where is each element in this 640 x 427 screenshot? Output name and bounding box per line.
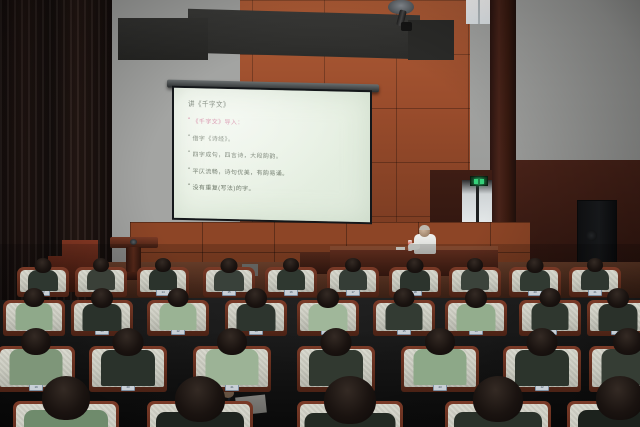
audience-member [527, 328, 558, 390]
audience-member-head [465, 288, 487, 308]
audience-member-head [473, 376, 523, 422]
audience-member-head [587, 258, 603, 272]
audience-member-torso [214, 270, 244, 291]
slide-bullet-1: • 《千字文》导入： [188, 116, 360, 129]
audience-member-torso [160, 303, 197, 330]
audience-member-head [168, 288, 189, 307]
audience-member-torso [309, 304, 348, 331]
audience-member-head [175, 376, 225, 422]
audience-member-torso [277, 269, 305, 290]
slide-title: 讲《千字文》 [188, 97, 360, 112]
slide-bullet-3: • 四字成句，四言诗，大段韵韵。 [188, 149, 360, 162]
audience-member-head [527, 258, 544, 273]
slide-content: 讲《千字文》 • 《千字文》导入： • 借字《诗经》。 • 四字成句，四言诗，大… [174, 88, 370, 222]
audience-member [91, 288, 113, 333]
audience-member-head [91, 288, 113, 308]
audience-member-head [221, 258, 238, 273]
audience-member-head [407, 258, 424, 273]
audience-member-torso [386, 303, 423, 330]
audience-member [345, 258, 361, 292]
bullet-marker-icon: • [188, 133, 191, 139]
audience-seating: 1213141516171819202122231213141516171819… [0, 244, 640, 427]
audience-member-torso [339, 269, 367, 290]
slide-bullet-5-text: 没有重复(写法)的字。 [193, 182, 255, 192]
audience-member-head [607, 288, 629, 308]
audience-member-head [35, 258, 52, 273]
audience-member-head [613, 328, 640, 355]
audience-member-torso [461, 269, 489, 290]
audience-member-head [245, 288, 267, 308]
audience-member-torso [237, 304, 276, 331]
slide-bullet-5: • 没有重复(写法)的字。 [188, 182, 360, 195]
ceiling-beam-right [408, 20, 454, 60]
audience-member-head [24, 288, 45, 307]
loudspeaker-driver-icon [586, 230, 597, 241]
bullet-marker-icon: • [188, 149, 191, 155]
audience-member-head [345, 258, 361, 272]
audience-member-head [540, 288, 561, 307]
audience-member [24, 288, 45, 332]
ceiling-beam [188, 9, 420, 59]
audience-member [465, 288, 487, 333]
audience-member-torso [83, 304, 122, 331]
bullet-marker-icon: • [188, 116, 191, 122]
audience-member-head [324, 376, 376, 424]
slide-bullet-1-text: 《千字文》导入： [193, 116, 244, 126]
audience-member-head [217, 328, 247, 355]
wood-column [490, 0, 516, 240]
slide-bullet-4: • 平仄流畅，诗句优美，有韵易诵。 [188, 166, 360, 179]
audience-member-torso [581, 269, 609, 290]
slide-bullet-list: • 《千字文》导入： • 借字《诗经》。 • 四字成句，四言诗，大段韵韵。 • … [188, 116, 360, 195]
audience-member-head [596, 376, 640, 420]
audience-member-torso [457, 304, 496, 331]
projection-screen: 讲《千字文》 • 《千字文》导入： • 借字《诗经》。 • 四字成句，四言诗，大… [174, 88, 370, 222]
presenter-hair [419, 225, 430, 230]
audience-member-head [113, 328, 144, 356]
audience-member-head [42, 376, 90, 420]
audience-member [42, 376, 90, 427]
slide-bullet-2-text: 借字《诗经》。 [193, 133, 235, 143]
audience-member-head [21, 328, 51, 355]
exit-sign [470, 176, 488, 186]
audience-member-head [467, 258, 483, 272]
audience-member [324, 376, 376, 427]
audience-member [587, 258, 603, 292]
audience-member-torso [87, 269, 115, 290]
audience-member-head [155, 258, 171, 272]
slide-bullet-3-text: 四字成句，四言诗，大段韵韵。 [193, 149, 283, 160]
exit-sign-glyph [474, 179, 484, 184]
audience-member [113, 328, 144, 390]
audience-member-head [321, 328, 352, 356]
audience-member [596, 376, 640, 427]
audience-member [473, 376, 523, 427]
audience-member [155, 258, 171, 292]
audience-member-torso [599, 304, 638, 331]
audience-member-head [527, 328, 558, 356]
lecture-hall-photo: 讲《千字文》 • 《千字文》导入： • 借字《诗经》。 • 四字成句，四言诗，大… [0, 0, 640, 427]
audience-member [283, 258, 299, 292]
audience-member-head [317, 288, 339, 308]
slide-bullet-4-text: 平仄流畅，诗句优美，有韵易诵。 [193, 166, 289, 177]
audience-member-head [283, 258, 299, 272]
audience-member-torso [532, 303, 569, 330]
audience-member [540, 288, 561, 332]
audience-member [221, 258, 238, 293]
audience-member-head [93, 258, 109, 272]
audience-member [245, 288, 267, 333]
spotlight-head [401, 22, 412, 31]
audience-member-head [425, 328, 455, 355]
audience-member [168, 288, 189, 332]
audience-member [467, 258, 483, 292]
window-mullion [478, 0, 480, 24]
bullet-marker-icon: • [188, 166, 191, 172]
audience-member [93, 258, 109, 292]
audience-member [607, 288, 629, 333]
audience-member-torso [149, 269, 177, 290]
ceiling-beam-left [118, 18, 208, 60]
slide-bullet-2: • 借字《诗经》。 [188, 133, 360, 146]
audience-member-torso [16, 303, 53, 330]
bullet-marker-icon: • [188, 182, 191, 188]
audience-member [317, 288, 339, 333]
audience-member [175, 376, 225, 427]
audience-member [425, 328, 455, 389]
audience-member-head [394, 288, 415, 307]
audience-member [394, 288, 415, 332]
